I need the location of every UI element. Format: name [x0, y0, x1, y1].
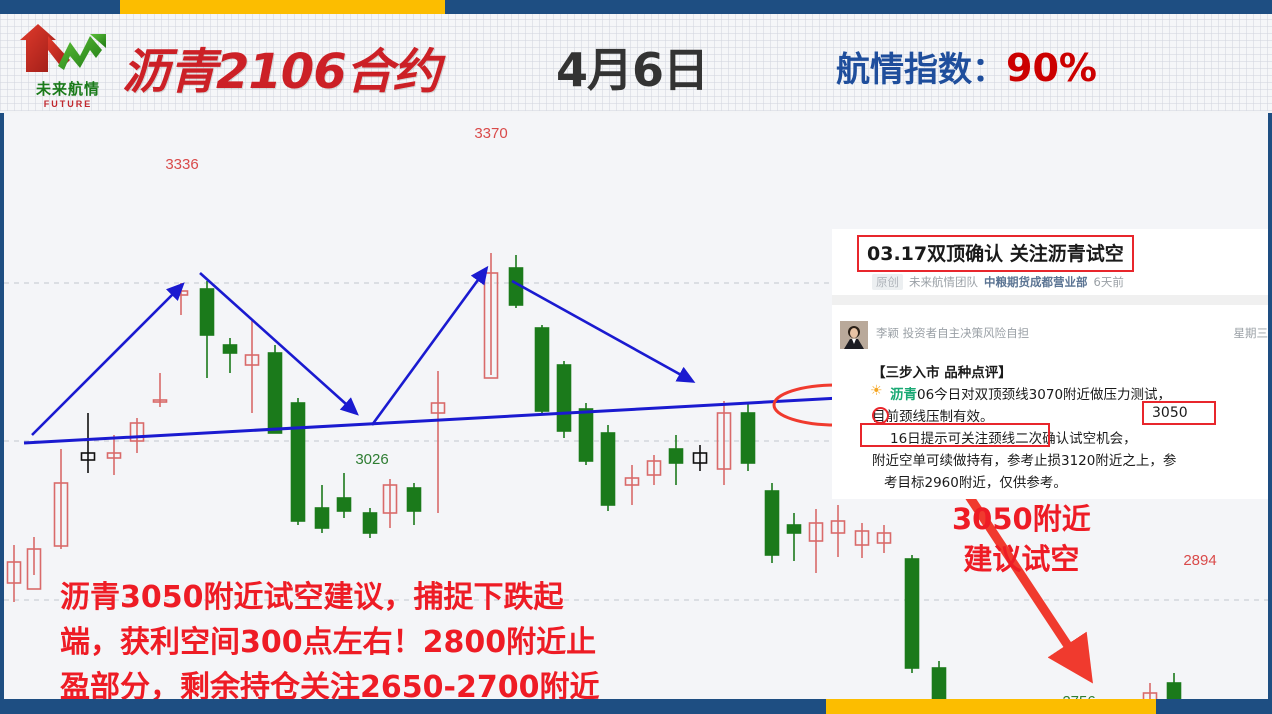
annotation-line-2: 端，获利空间300点左右！2800附近止	[60, 620, 700, 665]
highlight-phrase-box	[860, 423, 1050, 447]
candle-body	[766, 491, 779, 555]
candlestick-chart[interactable]: 33363370302627562894 沥青3050附近试空建议，捕捉下跌起 …	[0, 113, 1272, 699]
candle-body	[201, 289, 214, 335]
logo-text-cn: 未来航情	[18, 78, 118, 99]
article-body-line-3: 目前颈线压制有效。	[872, 405, 994, 425]
candle-body	[536, 328, 549, 411]
article-org[interactable]: 中粮期货成都营业部	[984, 275, 1088, 289]
candle-body	[292, 403, 305, 521]
candle-body	[408, 488, 421, 511]
price-label: 3336	[165, 156, 198, 173]
circle-bullet-icon	[872, 407, 889, 424]
page-header: 未来航情 FUTURE 沥青2106合约 4月6日 航情指数：90%	[0, 14, 1272, 111]
brand-logo: 未来航情 FUTURE	[18, 22, 118, 104]
sentiment-index-value: 90%	[1006, 46, 1097, 90]
candle-body	[670, 449, 683, 463]
article-body-line-5: 附近空单可续做持有，参考止损3120附近之上，参	[872, 449, 1176, 469]
price-label: 3026	[355, 451, 388, 468]
article-body-line-1: 【三步入市 品种点评】	[872, 361, 1012, 381]
candle-body	[933, 668, 946, 699]
article-time: 6天前	[1094, 275, 1124, 289]
annotation-line-1: 沥青3050附近试空建议，捕捉下跌起	[60, 575, 700, 620]
candle-body	[580, 409, 593, 461]
candle-body	[224, 345, 237, 353]
candle-body	[788, 525, 801, 533]
price-label: 2894	[1183, 552, 1216, 569]
article-body-line-6: 考目标2960附近，仅供参考。	[884, 471, 1067, 491]
article-original-tag: 原创	[872, 274, 903, 290]
candle-body	[364, 513, 377, 533]
entry-callout: 3050附近 建议试空	[952, 499, 1091, 579]
candle-body	[906, 559, 919, 668]
article-body-line-2-rest: 06今日对双顶颈线3070附近做压力测试，	[917, 387, 1171, 403]
sun-star-icon: ☀	[870, 383, 883, 399]
candle-body	[338, 498, 351, 511]
annotation-text: 沥青3050附近试空建议，捕捉下跌起 端，获利空间300点左右！2800附近止 …	[60, 575, 700, 699]
logo-arrows-icon	[18, 22, 118, 78]
sentiment-index-label: 航情指数：	[836, 50, 1006, 90]
candle-body	[1168, 683, 1181, 699]
highlight-price: 3050	[1152, 405, 1188, 421]
sentiment-index: 航情指数：90%	[836, 42, 1097, 91]
annotation-line-3: 盈部分，剩余持仓关注2650-2700附近	[60, 665, 700, 699]
entry-callout-line-2: 建议试空	[952, 539, 1091, 579]
article-title: 03.17双顶确认 关注沥青试空	[867, 239, 1124, 266]
avatar[interactable]	[840, 321, 868, 349]
article-body-keyword: 沥青	[890, 387, 917, 403]
candle-body	[602, 433, 615, 505]
article-author-name: 李颖 投资者自主决策风险自担	[876, 325, 1029, 341]
entry-callout-line-1: 3050附近	[952, 499, 1091, 539]
embedded-article-screenshot[interactable]: 03.17双顶确认 关注沥青试空 原创未来航情团队中粮期货成都营业部6天前 李颖…	[832, 229, 1272, 499]
price-label: 3370	[474, 125, 507, 142]
article-body-line-2: 沥青06今日对双顶颈线3070附近做压力测试，	[890, 383, 1171, 403]
bottom-accent-bar-highlight	[826, 699, 1156, 714]
top-accent-bar-highlight	[120, 0, 445, 14]
avatar-photo-icon	[840, 321, 868, 349]
article-author: 未来航情团队	[909, 275, 978, 289]
candle-body	[316, 508, 329, 528]
page-title: 沥青2106合约	[122, 32, 440, 102]
article-meta-row: 原创未来航情团队中粮期货成都营业部6天前	[872, 274, 1124, 290]
report-date: 4月6日	[556, 34, 708, 100]
candle-body	[742, 413, 755, 463]
article-title-highlight-box: 03.17双顶确认 关注沥青试空	[857, 235, 1134, 272]
article-weekday: 星期三	[1234, 325, 1269, 341]
article-divider	[832, 295, 1272, 305]
candle-body	[269, 353, 282, 433]
logo-text-en: FUTURE	[18, 99, 118, 109]
article-author-row: 李颖 投资者自主决策风险自担 星期三	[840, 321, 1272, 351]
candle-body	[558, 365, 571, 431]
